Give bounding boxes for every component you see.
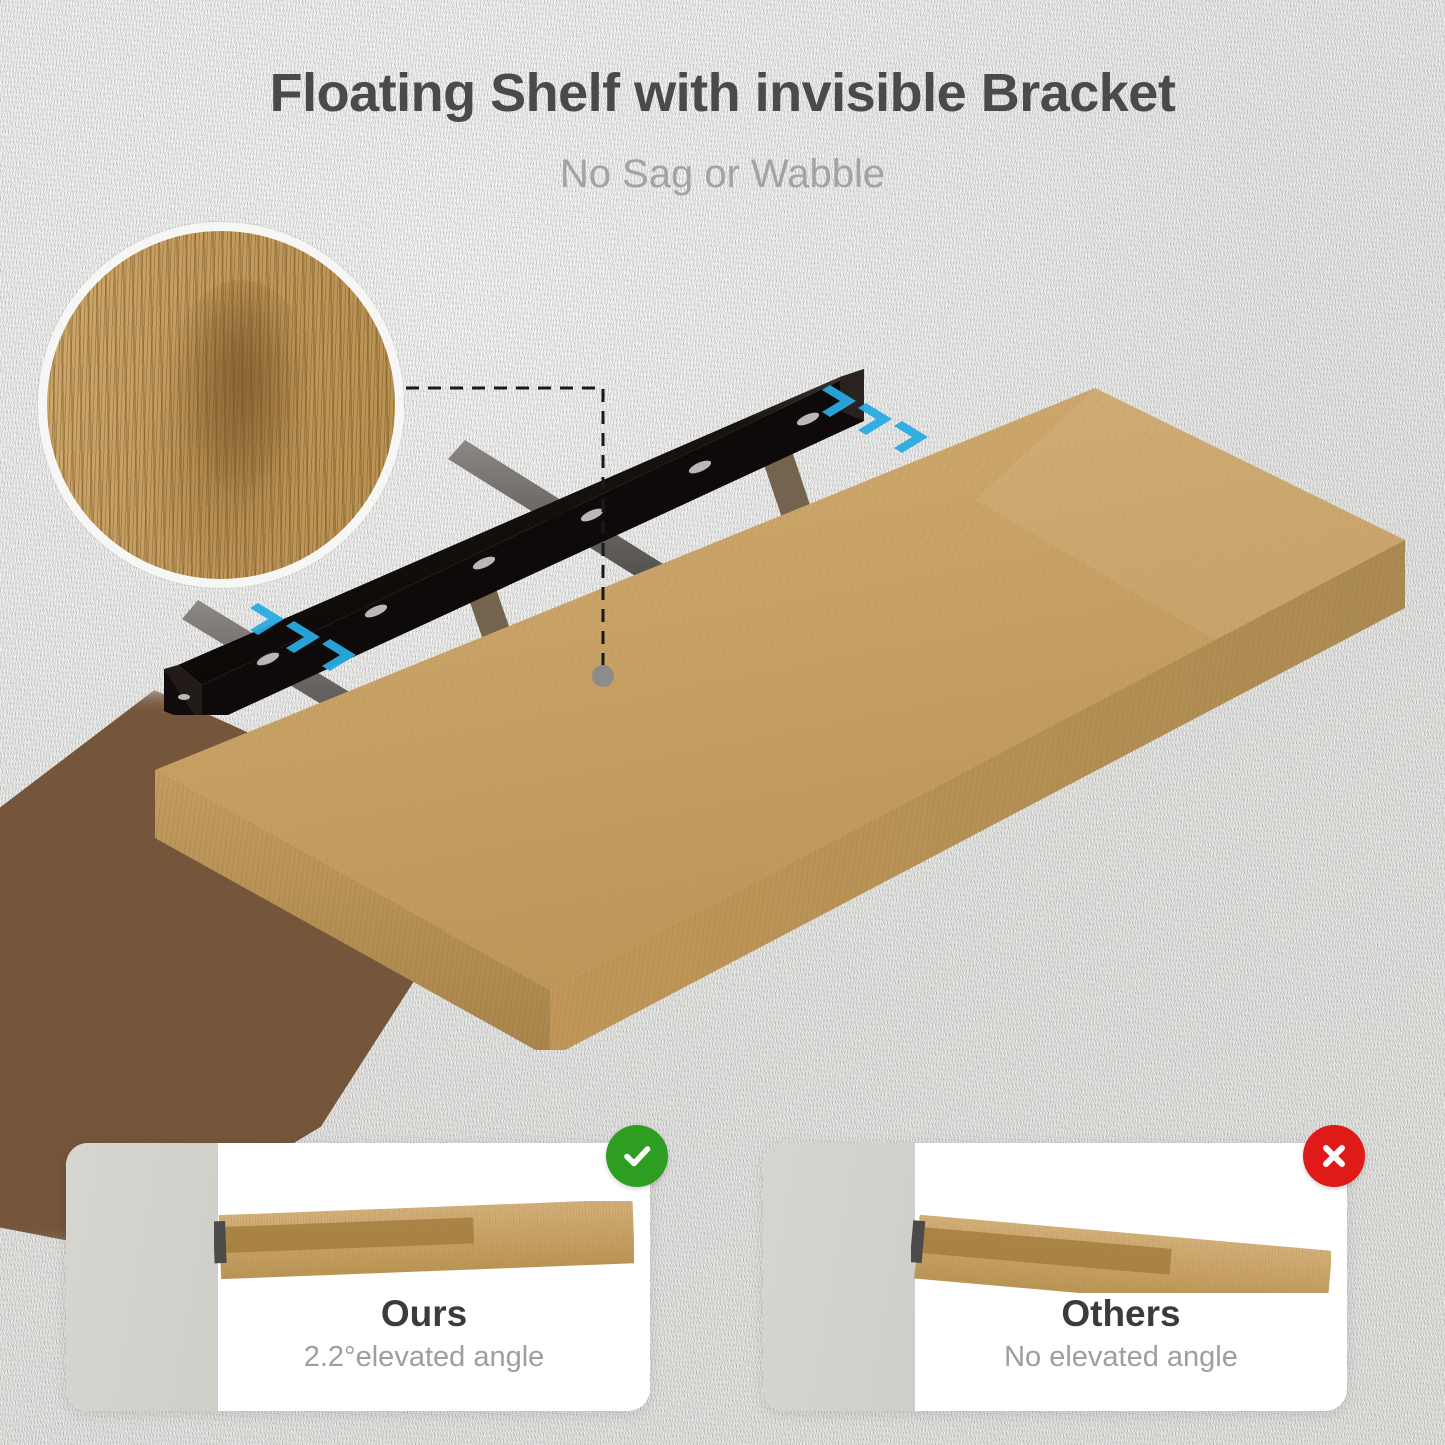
comparison-card-ours: Ours 2.2°elevated angle [66,1143,650,1411]
shelf-cross-section-ours [214,1201,634,1293]
page-title: Floating Shelf with invisible Bracket [0,62,1445,124]
card-subtitle-ours: 2.2°elevated angle [214,1341,634,1374]
comparison-card-others: Others No elevated angle [763,1143,1347,1411]
shelf-cross-section-others [911,1201,1331,1293]
wall-block [763,1143,915,1411]
card-subtitle-others: No elevated angle [911,1341,1331,1374]
wall-block [66,1143,218,1411]
floating-shelf-board [95,370,1445,1050]
check-icon [606,1125,668,1187]
card-title-others: Others [911,1293,1331,1335]
product-infographic: Floating Shelf with invisible Bracket No… [0,0,1445,1445]
cross-icon [1303,1125,1365,1187]
page-subtitle: No Sag or Wabble [0,152,1445,197]
card-title-ours: Ours [214,1293,634,1335]
